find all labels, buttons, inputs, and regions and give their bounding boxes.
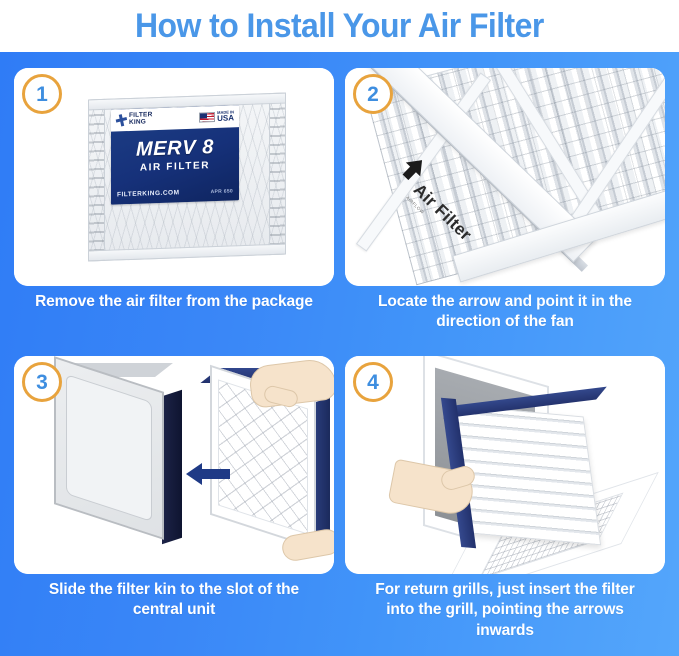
brand-text: FILTER KING bbox=[129, 112, 152, 126]
step-4-caption-line-3: inwards bbox=[351, 621, 659, 641]
step-1-card: FILTER KING MADE IN USA bbox=[14, 68, 334, 286]
step-1: FILTER KING MADE IN USA bbox=[14, 68, 334, 286]
return-grille-insert-image bbox=[345, 356, 665, 574]
step-number-badge-4: 4 bbox=[353, 362, 393, 402]
grille-door-louvers bbox=[453, 405, 601, 546]
step-number-badge-1: 1 bbox=[22, 74, 62, 114]
step-4-caption-line-2: into the grill, pointing the arrows bbox=[351, 600, 659, 620]
slide-filter-into-slot-image bbox=[14, 356, 334, 574]
slide-direction-arrow-icon bbox=[186, 461, 230, 492]
step-2-caption-line-2: direction of the fan bbox=[351, 312, 659, 332]
step-2: Air Filter AIRFLOW 2 Locate the arrow an… bbox=[345, 68, 665, 286]
crown-icon bbox=[115, 113, 128, 127]
step-3-caption: Slide the filter kin to the slot of the … bbox=[14, 580, 334, 621]
apr-rating: APR 650 bbox=[211, 188, 233, 195]
country-label: USA bbox=[217, 114, 234, 123]
usa-flag-icon bbox=[199, 112, 215, 123]
header: How to Install Your Air Filter bbox=[0, 0, 679, 52]
step-3-card: 3 bbox=[14, 356, 334, 574]
filter-frame-right bbox=[269, 93, 286, 256]
step-3-caption-line-2: central unit bbox=[20, 600, 328, 620]
infographic-page: How to Install Your Air Filter bbox=[0, 0, 679, 656]
steps-grid: FILTER KING MADE IN USA bbox=[14, 68, 665, 646]
made-in-usa-badge: MADE IN USA bbox=[199, 110, 234, 123]
step-4-caption-line-1: For return grills, just insert the filte… bbox=[351, 580, 659, 600]
brand-line-2: KING bbox=[129, 119, 152, 127]
filter-king-logo: FILTER KING bbox=[116, 112, 152, 127]
step-3: 3 Slide the filter kin to the slot of th… bbox=[14, 356, 334, 574]
filter-label-header: FILTER KING MADE IN USA bbox=[111, 105, 239, 131]
boxed-merv8-air-filter-image: FILTER KING MADE IN USA bbox=[14, 68, 334, 286]
step-1-caption: Remove the air filter from the package bbox=[14, 292, 334, 312]
filter-frame-left bbox=[88, 99, 105, 262]
step-3-caption-line-1: Slide the filter kin to the slot of the bbox=[20, 580, 328, 600]
step-2-card: Air Filter AIRFLOW 2 bbox=[345, 68, 665, 286]
central-unit-slot bbox=[162, 390, 182, 544]
filter-label-footer: FILTERKING.COM APR 650 bbox=[117, 187, 233, 198]
step-number-badge-3: 3 bbox=[22, 362, 62, 402]
step-number-badge-2: 2 bbox=[353, 74, 393, 114]
pleated-filter-corner-image: Air Filter AIRFLOW bbox=[345, 68, 665, 286]
website-url: FILTERKING.COM bbox=[117, 189, 180, 198]
filter-label: FILTER KING MADE IN USA bbox=[111, 105, 239, 204]
page-title: How to Install Your Air Filter bbox=[135, 7, 544, 46]
step-4-caption: For return grills, just insert the filte… bbox=[345, 580, 665, 641]
step-2-caption-line-1: Locate the arrow and point it in the bbox=[351, 292, 659, 312]
made-in-usa-text: MADE IN USA bbox=[217, 110, 234, 123]
step-2-caption: Locate the arrow and point it in the dir… bbox=[345, 292, 665, 333]
air-filter-product: FILTER KING MADE IN USA bbox=[88, 93, 286, 262]
merv-rating: MERV 8 bbox=[111, 135, 239, 162]
step-4: 4 For return grills, just insert the fil… bbox=[345, 356, 665, 574]
step-4-card: 4 bbox=[345, 356, 665, 574]
